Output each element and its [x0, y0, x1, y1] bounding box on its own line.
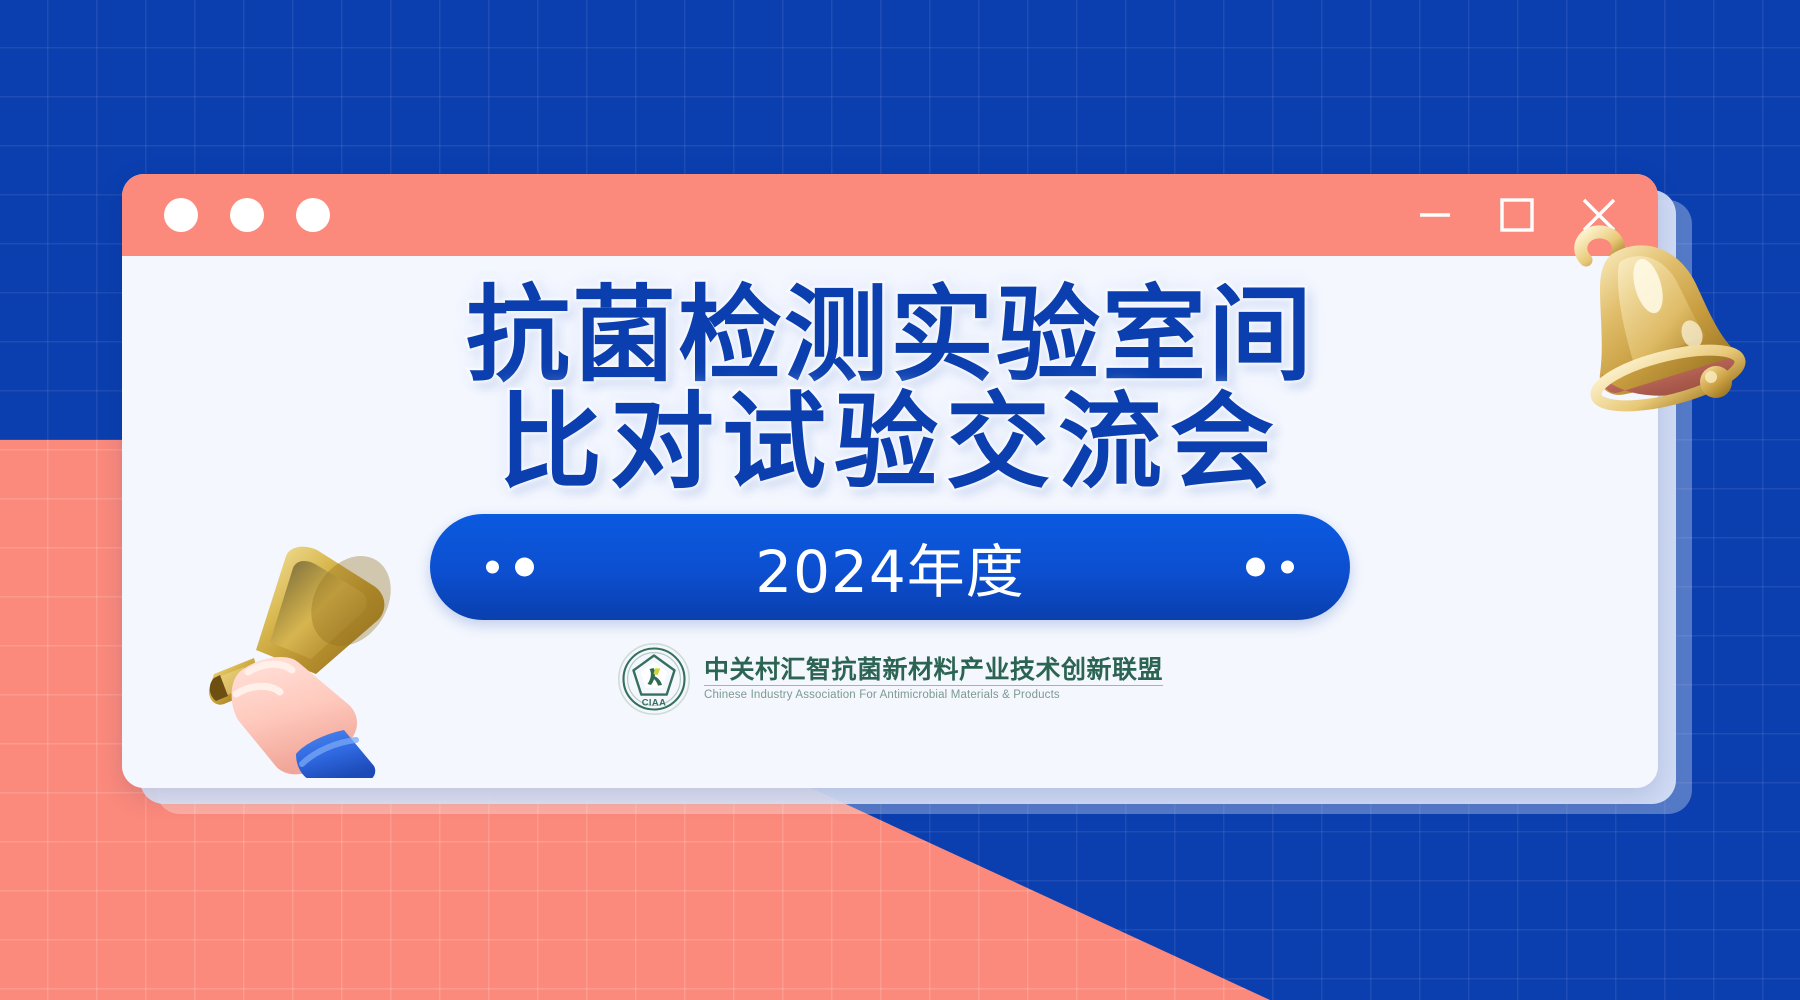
page-title: 抗菌检测实验室间 比对试验交流会: [466, 282, 1314, 496]
traffic-light-group: [164, 198, 330, 232]
ciaa-emblem-icon: CIAA: [617, 642, 691, 716]
pill-dot-big-right: [1246, 558, 1265, 577]
pill-dots-left: [486, 558, 534, 577]
minimize-icon[interactable]: [1414, 194, 1456, 236]
year-pill-banner[interactable]: 2024年度: [430, 514, 1350, 620]
association-divider: [704, 685, 1163, 686]
megaphone-3d-icon: [178, 538, 408, 778]
bell-3d-icon: [1556, 222, 1771, 422]
maximize-icon[interactable]: [1496, 194, 1538, 236]
window-titlebar: [122, 174, 1658, 256]
year-pill-label: 2024年度: [755, 525, 1025, 609]
traffic-light-dot-3[interactable]: [296, 198, 330, 232]
pill-dot-small-left: [486, 561, 499, 574]
traffic-light-dot-2[interactable]: [230, 198, 264, 232]
association-logo-text: 中关村汇智抗菌新材料产业技术创新联盟 Chinese Industry Asso…: [704, 657, 1163, 702]
pill-dots-right: [1246, 558, 1294, 577]
association-name-cn: 中关村汇智抗菌新材料产业技术创新联盟: [704, 657, 1163, 682]
association-name-en: Chinese Industry Association For Antimic…: [704, 689, 1163, 702]
association-logo: CIAA 中关村汇智抗菌新材料产业技术创新联盟 Chinese Industry…: [617, 642, 1163, 716]
svg-text:CIAA: CIAA: [642, 697, 667, 708]
pill-dot-small-right: [1281, 561, 1294, 574]
pill-dot-big-left: [515, 558, 534, 577]
traffic-light-dot-1[interactable]: [164, 198, 198, 232]
page-title-line-2: 比对试验交流会: [466, 389, 1314, 496]
page-title-line-1: 抗菌检测实验室间: [466, 282, 1314, 389]
